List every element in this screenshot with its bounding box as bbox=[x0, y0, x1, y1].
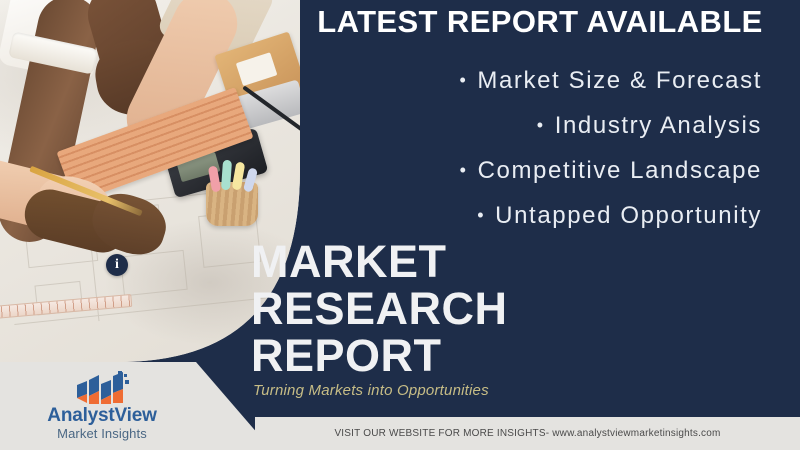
headline: LATEST REPORT AVAILABLE bbox=[292, 4, 788, 40]
page-title: MARKET RESEARCH REPORT bbox=[251, 238, 508, 379]
info-icon: i bbox=[106, 254, 128, 276]
feature-list: •Market Size & Forecast •Industry Analys… bbox=[300, 58, 762, 238]
page-title-line: MARKET bbox=[251, 238, 508, 285]
list-item-label: Industry Analysis bbox=[555, 112, 762, 139]
list-item-label: Market Size & Forecast bbox=[477, 67, 762, 94]
footer-text: VISIT OUR WEBSITE FOR MORE INSIGHTS- www… bbox=[255, 417, 800, 450]
marketing-banner: i LATEST REPORT AVAILABLE •Market Size &… bbox=[0, 0, 800, 450]
notebook-label bbox=[236, 52, 278, 86]
bar-chart-logo-icon bbox=[74, 371, 130, 405]
page-title-line: RESEARCH bbox=[251, 285, 508, 332]
list-item-label: Competitive Landscape bbox=[478, 157, 762, 184]
bullet-icon: • bbox=[459, 58, 467, 103]
logo-subtitle: Market Insights bbox=[57, 426, 147, 441]
bullet-icon: • bbox=[460, 148, 468, 193]
bullet-icon: • bbox=[477, 193, 485, 238]
bullet-icon: • bbox=[537, 103, 545, 148]
brand-logo[interactable]: AnalystView Market Insights bbox=[12, 362, 192, 450]
list-item: •Untapped Opportunity bbox=[300, 193, 762, 238]
list-item-label: Untapped Opportunity bbox=[495, 202, 762, 229]
list-item: •Competitive Landscape bbox=[300, 148, 762, 193]
list-item: •Industry Analysis bbox=[300, 103, 762, 148]
logo-name: AnalystView bbox=[47, 406, 156, 426]
tagline: Turning Markets into Opportunities bbox=[253, 382, 489, 399]
page-title-line: REPORT bbox=[251, 332, 508, 379]
list-item: •Market Size & Forecast bbox=[300, 58, 762, 103]
